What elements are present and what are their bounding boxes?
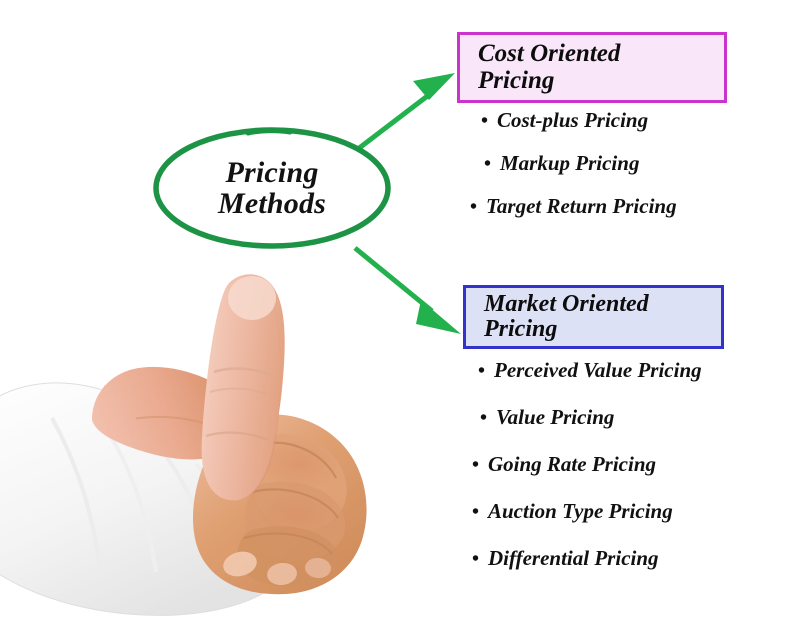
header-market-line1: Market Oriented	[484, 292, 721, 317]
list-item-label: Differential Pricing	[488, 546, 659, 571]
header-cost-line1: Cost Oriented	[478, 41, 724, 67]
header-cost-oriented-pricing[interactable]: Cost Oriented Pricing	[457, 32, 727, 103]
list-item[interactable]: • Target Return Pricing	[470, 194, 790, 237]
bullet-point-icon: •	[480, 408, 496, 428]
bullet-point-icon: •	[481, 111, 497, 131]
header-cost-line2: Pricing	[478, 68, 724, 94]
list-item[interactable]: • Auction Type Pricing	[472, 499, 796, 546]
center-node-pricing-methods: Pricing Methods	[152, 126, 392, 250]
list-item-label: Auction Type Pricing	[488, 499, 673, 524]
list-item[interactable]: • Differential Pricing	[472, 546, 796, 593]
list-item[interactable]: • Markup Pricing	[484, 151, 790, 194]
bullet-point-icon: •	[472, 549, 488, 569]
list-item-label: Perceived Value Pricing	[494, 358, 702, 383]
center-node-line1: Pricing	[225, 157, 318, 188]
bullet-point-icon: •	[484, 154, 500, 174]
hand-pointing-up-photo	[0, 268, 420, 635]
bullet-point-icon: •	[478, 361, 494, 381]
list-item[interactable]: • Value Pricing	[480, 405, 796, 452]
list-item-label: Going Rate Pricing	[488, 452, 656, 477]
list-item-label: Markup Pricing	[500, 151, 639, 176]
diagram-canvas: Pricing Methods Cost Oriented Pricing • …	[0, 0, 800, 635]
center-node-line2: Methods	[218, 188, 326, 219]
center-node-label: Pricing Methods	[152, 126, 392, 250]
list-item[interactable]: • Perceived Value Pricing	[478, 358, 796, 405]
list-item-label: Target Return Pricing	[486, 194, 677, 219]
list-item-label: Value Pricing	[496, 405, 614, 430]
header-market-line2: Pricing	[484, 317, 721, 342]
list-cost-oriented-items: • Cost-plus Pricing • Markup Pricing • T…	[470, 108, 790, 237]
bullet-point-icon: •	[470, 197, 486, 217]
list-item-label: Cost-plus Pricing	[497, 108, 648, 133]
bullet-point-icon: •	[472, 455, 488, 475]
list-market-oriented-items: • Perceived Value Pricing • Value Pricin…	[466, 358, 796, 593]
list-item[interactable]: • Going Rate Pricing	[472, 452, 796, 499]
bullet-point-icon: •	[472, 502, 488, 522]
list-item[interactable]: • Cost-plus Pricing	[481, 108, 790, 151]
header-market-oriented-pricing[interactable]: Market Oriented Pricing	[463, 285, 724, 349]
